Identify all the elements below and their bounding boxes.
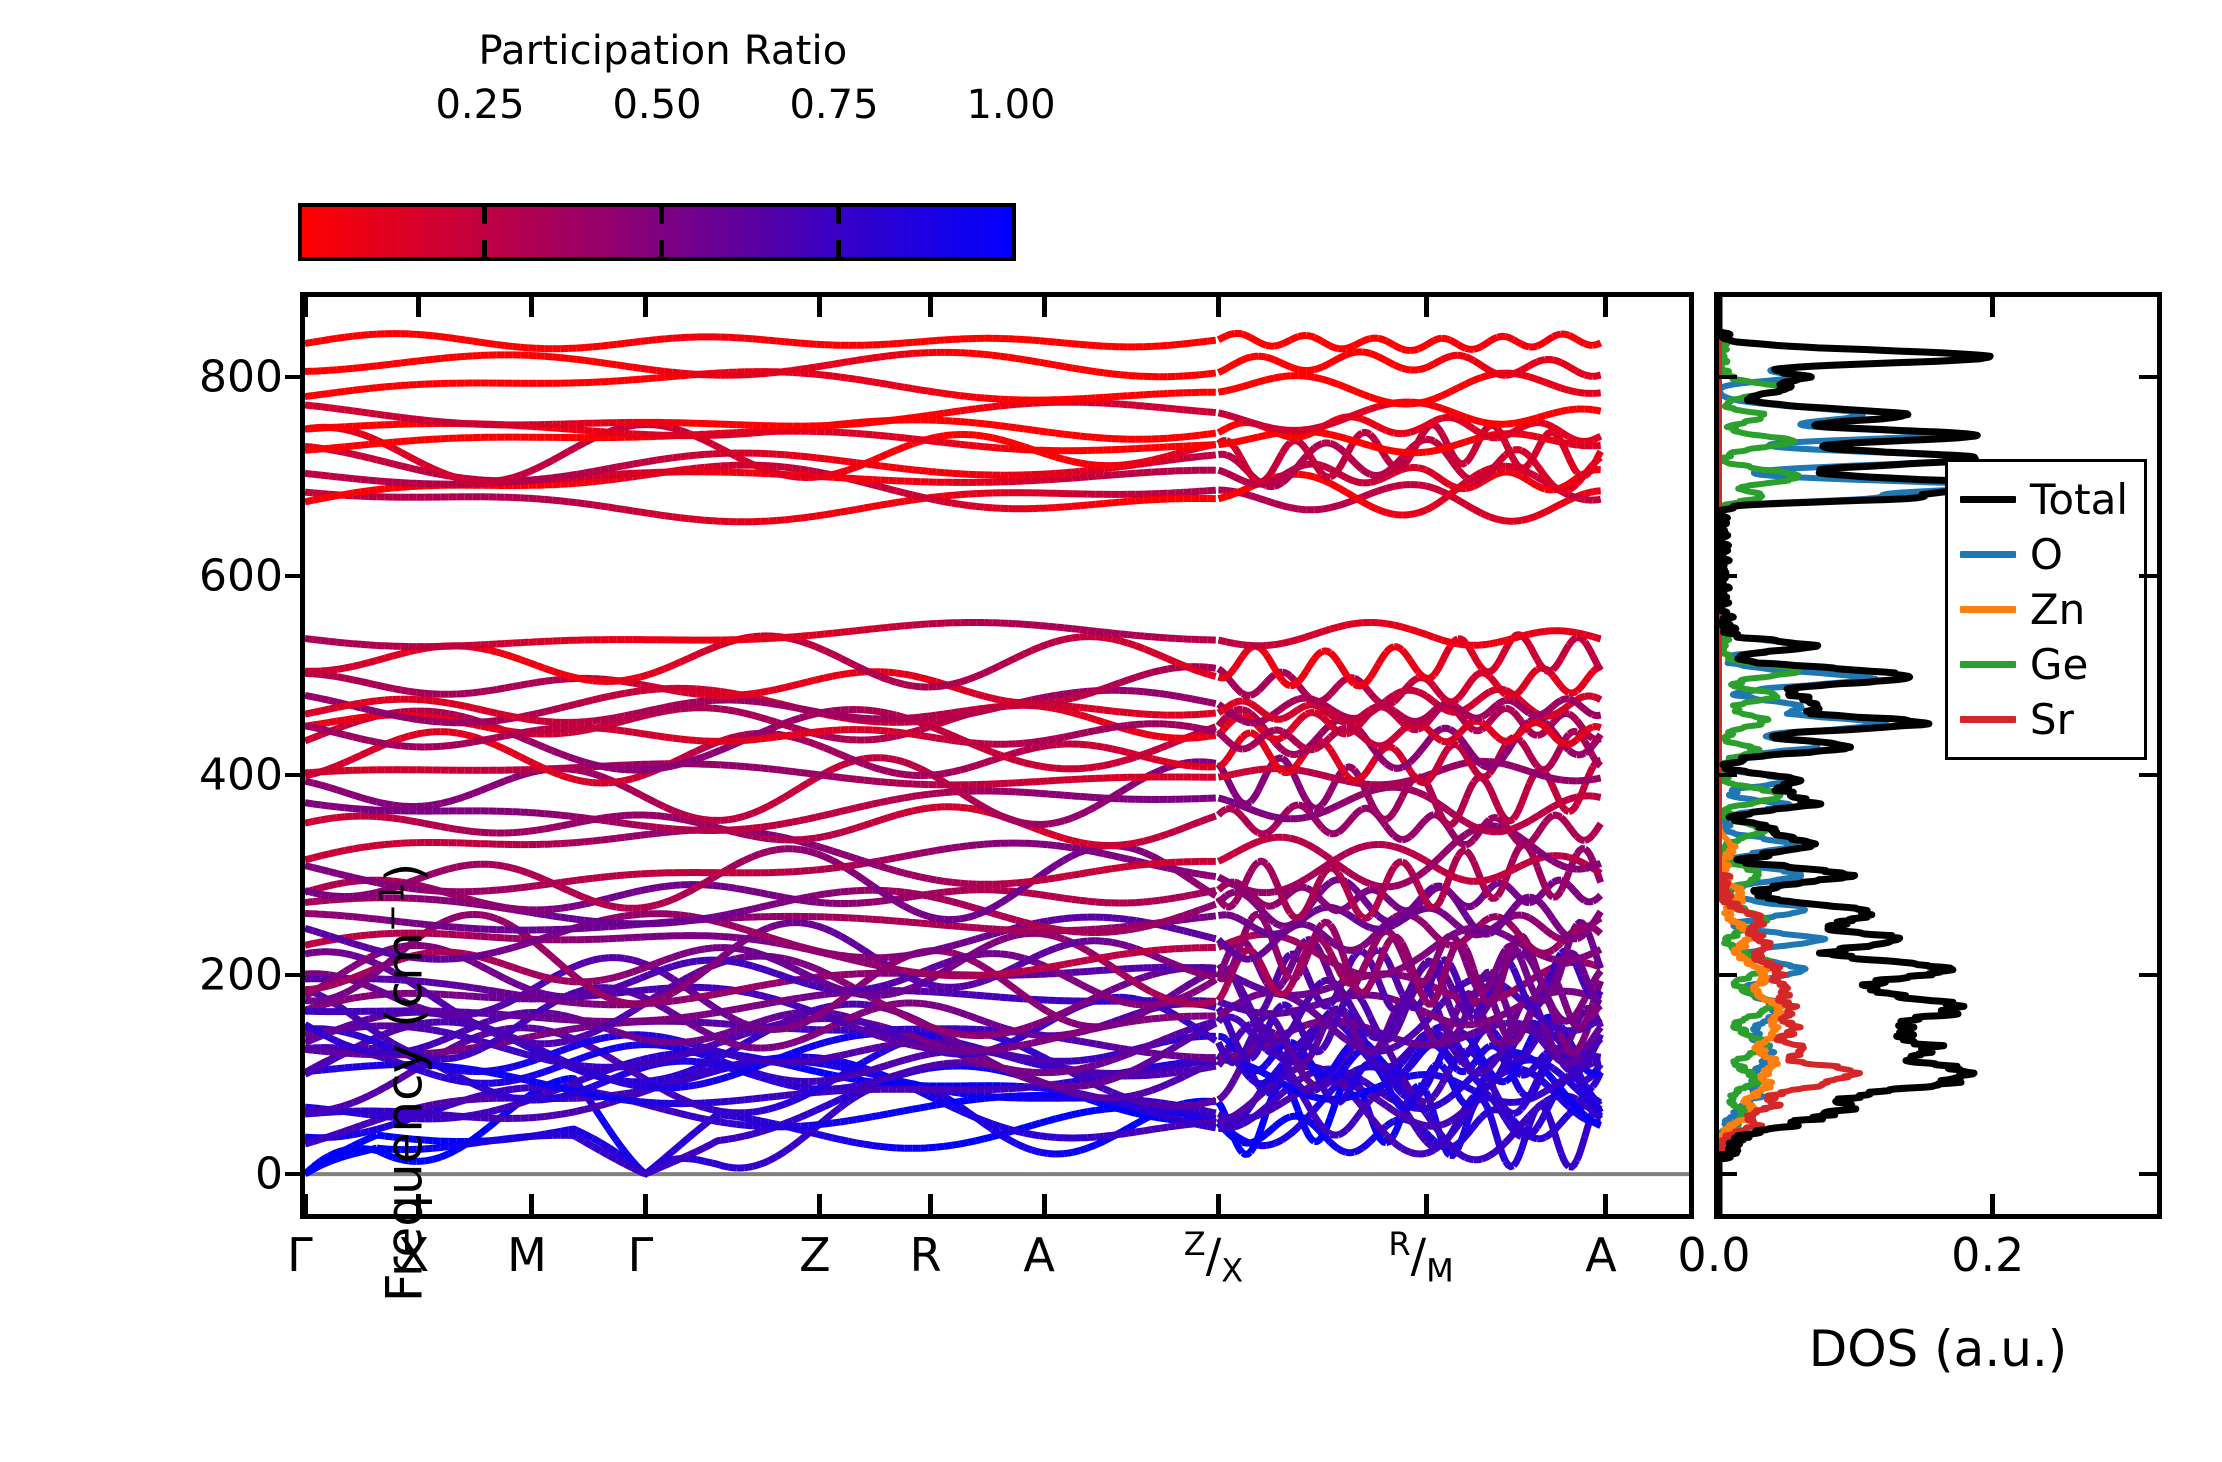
phonon-band-segment xyxy=(1585,953,1593,956)
phonon-band-segment xyxy=(872,919,880,920)
phonon-band-segment xyxy=(513,982,521,986)
phonon-band-segment xyxy=(984,944,992,948)
phonon-band-segment xyxy=(1378,1033,1386,1038)
phonon-band-segment xyxy=(449,1069,457,1071)
phonon-band-segment xyxy=(1234,1135,1242,1140)
phonon-band-segment xyxy=(1016,1028,1024,1030)
phonon-band-segment xyxy=(489,937,497,938)
phonon-band-segment xyxy=(728,1048,736,1052)
phonon-band-segment xyxy=(1000,978,1008,984)
phonon-band-segment xyxy=(353,975,361,978)
phonon-band-segment xyxy=(1362,1049,1370,1051)
phonon-band-segment xyxy=(649,963,657,966)
phonon-band-segment xyxy=(912,1045,920,1047)
phonon-band-segment xyxy=(513,1040,521,1042)
phonon-band-segment xyxy=(537,1034,545,1036)
phonon-band-segment xyxy=(952,1039,960,1044)
phonon-band-segment xyxy=(776,982,784,983)
phonon-band-segment xyxy=(521,943,529,946)
phonon-band-segment xyxy=(449,1150,457,1154)
phonon-band-segment xyxy=(433,1058,441,1059)
phonon-band-segment xyxy=(856,918,864,919)
phonon-band-segment xyxy=(992,929,1000,930)
phonon-band-segment xyxy=(1072,1151,1080,1153)
phonon-band-segment xyxy=(441,1102,449,1103)
phonon-band-segment xyxy=(808,949,816,951)
phonon-band-segment xyxy=(1024,1048,1032,1052)
phonon-band-segment xyxy=(553,958,561,965)
band-plot-area xyxy=(305,297,1689,1214)
phonon-band-segment xyxy=(1072,1061,1080,1062)
phonon-band-segment xyxy=(1000,1134,1008,1139)
phonon-band-segment xyxy=(697,1015,705,1016)
phonon-band-segment xyxy=(1032,924,1040,926)
phonon-band-segment xyxy=(489,1031,497,1035)
phonon-band-segment xyxy=(1168,949,1176,950)
phonon-band-segment xyxy=(337,915,345,916)
phonon-band-segment xyxy=(489,1091,497,1094)
phonon-band-segment xyxy=(768,971,776,974)
phonon-band-segment xyxy=(1192,1104,1200,1105)
phonon-band-segment xyxy=(681,1071,689,1074)
phonon-band-segment xyxy=(888,1075,896,1077)
phonon-band-segment xyxy=(705,995,713,996)
phonon-band-segment xyxy=(1426,1002,1434,1004)
phonon-band-segment xyxy=(1080,1001,1088,1005)
phonon-band-segment xyxy=(720,992,728,994)
phonon-band-segment xyxy=(824,1080,832,1081)
phonon-band-segment xyxy=(936,1049,944,1050)
phonon-band-segment xyxy=(992,974,1000,975)
phonon-band-segment xyxy=(633,914,641,915)
phonon-band-segment xyxy=(800,1087,808,1088)
phonon-band-segment xyxy=(944,1031,952,1033)
phonon-band-segment xyxy=(1104,995,1112,998)
phonon-band-segment xyxy=(880,1065,888,1068)
phonon-band-segment xyxy=(808,895,816,897)
phonon-band-segment xyxy=(657,1060,665,1062)
phonon-band-segment xyxy=(1545,1087,1553,1092)
phonon-band-segment xyxy=(792,944,800,946)
phonon-band-segment xyxy=(1048,966,1056,967)
phonon-band-segment xyxy=(784,1146,792,1152)
phonon-band-segment xyxy=(433,1114,441,1115)
phonon-band-segment xyxy=(1258,988,1266,991)
phonon-band-segment xyxy=(976,981,984,984)
phonon-band-segment xyxy=(689,1131,697,1138)
phonon-band-segment xyxy=(537,998,545,999)
phonon-band-segment xyxy=(433,952,441,953)
phonon-band-segment xyxy=(856,1028,864,1031)
phonon-band-segment xyxy=(1016,1088,1024,1089)
phonon-band-segment xyxy=(1314,928,1322,934)
phonon-band-segment xyxy=(1569,1160,1577,1167)
phonon-band-segment xyxy=(1144,901,1152,902)
phonon-band-segment xyxy=(473,1133,481,1139)
phonon-band-segment xyxy=(832,1138,840,1140)
phonon-band-segment xyxy=(553,996,561,997)
phonon-band-segment xyxy=(1080,1030,1088,1032)
phonon-band-segment xyxy=(1505,991,1513,995)
phonon-band-segment xyxy=(1048,1137,1056,1138)
phonon-band-segment xyxy=(1314,1101,1322,1110)
phonon-band-segment xyxy=(1040,1040,1048,1042)
phonon-band-segment xyxy=(529,1117,537,1118)
phonon-band-segment xyxy=(1274,932,1282,934)
phonon-band-segment xyxy=(1354,985,1362,993)
phonon-band-segment xyxy=(657,1055,665,1056)
phonon-band-segment xyxy=(577,919,585,920)
phonon-band-segment xyxy=(1569,1059,1577,1063)
phonon-band-segment xyxy=(848,956,856,957)
phonon-band-segment xyxy=(593,1084,601,1087)
phonon-band-segment xyxy=(537,1029,545,1030)
phonon-band-segment xyxy=(1250,925,1258,930)
phonon-band-segment xyxy=(329,1037,337,1041)
phonon-band-segment xyxy=(577,1137,585,1142)
phonon-band-segment xyxy=(505,938,513,939)
phonon-band-segment xyxy=(784,999,792,1000)
phonon-band-segment xyxy=(840,1054,848,1056)
phonon-band-segment xyxy=(976,1139,984,1141)
phonon-band-segment xyxy=(792,1086,800,1088)
phonon-band-segment xyxy=(888,957,896,958)
phonon-band-segment xyxy=(689,1023,697,1028)
phonon-band-segment xyxy=(617,1046,625,1048)
phonon-band-segment xyxy=(481,1087,489,1090)
phonon-band-segment xyxy=(609,917,617,919)
phonon-band-segment xyxy=(1218,986,1226,1000)
phonon-band-segment xyxy=(473,1039,481,1041)
phonon-band-segment xyxy=(473,1142,481,1143)
phonon-band-segment xyxy=(1184,1020,1192,1025)
phonon-band-segment xyxy=(864,1057,872,1062)
phonon-band-segment xyxy=(321,1069,329,1070)
phonon-band-segment xyxy=(1250,1069,1258,1071)
phonon-band-segment xyxy=(872,1034,880,1037)
phonon-band-segment xyxy=(752,891,760,893)
phonon-band-segment xyxy=(776,960,784,964)
phonon-band-segment xyxy=(1410,1120,1418,1123)
phonon-band-segment xyxy=(1008,972,1016,973)
phonon-band-segment xyxy=(673,1074,681,1076)
phonon-band-segment xyxy=(649,1020,657,1021)
phonon-band-segment xyxy=(1104,1075,1112,1076)
phonon-band-segment xyxy=(521,970,529,973)
phonon-band-segment xyxy=(1136,902,1144,903)
phonon-band-segment xyxy=(361,1037,369,1040)
phonon-band-segment xyxy=(752,1065,760,1068)
phonon-band-segment xyxy=(1370,995,1378,996)
phonon-band-segment xyxy=(728,1101,736,1102)
phonon-band-segment xyxy=(633,1101,641,1102)
phonon-band-segment xyxy=(1104,1104,1112,1106)
phonon-band-segment xyxy=(856,1012,864,1015)
phonon-band-segment xyxy=(1048,1084,1056,1085)
phonon-band-segment xyxy=(952,1010,960,1013)
phonon-band-segment xyxy=(337,1156,345,1159)
phonon-band-segment xyxy=(617,992,625,993)
phonon-band-segment xyxy=(697,1022,705,1023)
phonon-band-segment xyxy=(1104,961,1112,967)
phonon-band-segment xyxy=(1330,1134,1338,1135)
phonon-band-segment xyxy=(345,1154,353,1156)
phonon-band-segment xyxy=(537,975,545,977)
phonon-band-segment xyxy=(689,1116,697,1118)
phonon-band-segment xyxy=(585,1033,593,1036)
phonon-band-segment xyxy=(601,979,609,981)
phonon-band-segment xyxy=(736,1071,744,1074)
phonon-band-segment xyxy=(1160,971,1168,973)
phonon-band-segment xyxy=(633,1045,641,1046)
phonon-band-segment xyxy=(569,1082,577,1085)
phonon-band-segment xyxy=(665,957,673,960)
phonon-band-segment xyxy=(1120,944,1128,946)
phonon-band-segment xyxy=(824,1026,832,1030)
phonon-band-segment xyxy=(1450,995,1458,998)
phonon-band-segment xyxy=(457,896,465,898)
phonon-band-segment xyxy=(1537,1114,1545,1128)
phonon-band-segment xyxy=(816,1059,824,1060)
phonon-band-segment xyxy=(1258,950,1266,956)
phonon-band-segment xyxy=(1072,1040,1080,1041)
phonon-band-segment xyxy=(784,959,792,961)
phonon-band-segment xyxy=(1136,927,1144,929)
phonon-band-segment xyxy=(1192,1062,1200,1064)
phonon-band-segment xyxy=(649,1040,657,1041)
phonon-band-segment xyxy=(1000,954,1008,955)
phonon-band-segment xyxy=(1362,975,1370,976)
phonon-band-segment xyxy=(1561,1114,1569,1123)
phonon-band-segment xyxy=(705,1161,713,1163)
phonon-band-segment xyxy=(1192,910,1200,913)
phonon-band-segment xyxy=(465,915,473,916)
phonon-band-segment xyxy=(457,935,465,936)
phonon-band-segment xyxy=(960,927,968,928)
phonon-band-segment xyxy=(1250,985,1258,988)
phonon-band-segment xyxy=(537,1136,545,1137)
phonon-band-segment xyxy=(689,1051,697,1054)
phonon-band-segment xyxy=(976,1095,984,1096)
phonon-band-segment xyxy=(800,972,808,976)
phonon-band-segment xyxy=(984,1096,992,1097)
phonon-band-segment xyxy=(705,1081,713,1083)
phonon-band-segment xyxy=(705,948,713,949)
phonon-band-segment xyxy=(840,1121,848,1122)
phonon-band-segment xyxy=(992,1065,1000,1067)
phonon-band-segment xyxy=(944,966,952,971)
phonon-band-segment xyxy=(832,1056,840,1058)
phonon-band-segment xyxy=(768,937,776,940)
phonon-band-segment xyxy=(1080,947,1088,952)
phonon-band-segment xyxy=(457,915,465,917)
phonon-band-segment xyxy=(1136,1101,1144,1103)
phonon-band-segment xyxy=(768,1002,776,1003)
phonon-band-segment xyxy=(457,958,465,959)
phonon-band-segment xyxy=(353,1126,361,1129)
phonon-band-segment xyxy=(361,971,369,974)
phonon-band-segment xyxy=(1152,1053,1160,1054)
phonon-band-segment xyxy=(888,982,896,985)
phonon-band-segment xyxy=(856,1035,864,1036)
phonon-band-segment xyxy=(1112,1092,1120,1095)
phonon-band-segment xyxy=(1482,1095,1490,1098)
phonon-band-segment xyxy=(760,1097,768,1098)
phonon-band-segment xyxy=(1176,988,1184,993)
phonon-band-segment xyxy=(305,928,313,930)
phonon-band-segment xyxy=(904,892,912,893)
phonon-band-segment xyxy=(1128,1050,1136,1051)
phonon-band-segment xyxy=(1168,927,1176,929)
phonon-band-segment xyxy=(880,1114,888,1116)
phonon-band-segment xyxy=(665,886,673,887)
phonon-band-segment xyxy=(1144,1045,1152,1048)
phonon-band-segment xyxy=(553,908,561,909)
phonon-band-segment xyxy=(481,1010,489,1012)
phonon-band-segment xyxy=(689,977,697,983)
phonon-band-segment xyxy=(1144,1090,1152,1093)
phonon-band-segment xyxy=(545,977,553,979)
phonon-band-segment xyxy=(936,1146,944,1147)
phonon-band-segment xyxy=(1378,1100,1386,1106)
phonon-band-segment xyxy=(561,1088,569,1090)
phonon-band-segment xyxy=(1040,1007,1048,1012)
phonon-band-segment xyxy=(545,909,553,910)
phonon-band-segment xyxy=(313,1066,321,1070)
phonon-band-segment xyxy=(800,1126,808,1127)
phonon-band-segment xyxy=(513,1015,521,1016)
phonon-band-segment xyxy=(545,935,553,938)
phonon-band-segment xyxy=(665,1008,673,1013)
phonon-band-segment xyxy=(960,985,968,986)
phonon-band-segment xyxy=(1386,925,1394,928)
phonon-band-segment xyxy=(321,974,329,975)
phonon-band-segment xyxy=(928,1065,936,1067)
phonon-band-segment xyxy=(1402,1148,1410,1152)
phonon-band-segment xyxy=(593,980,601,981)
phonon-band-segment xyxy=(1064,976,1072,980)
phonon-band-segment xyxy=(641,1102,649,1103)
phonon-band-segment xyxy=(681,1098,689,1102)
phonon-band-segment xyxy=(1072,899,1080,900)
phonon-band-segment xyxy=(1338,966,1346,970)
phonon-band-segment xyxy=(1322,1036,1330,1050)
phonon-band-segment xyxy=(744,1167,752,1168)
phonon-band-segment xyxy=(1120,1073,1128,1076)
phonon-band-segment xyxy=(896,891,904,892)
phonon-band-segment xyxy=(329,1134,337,1137)
phonon-band-segment xyxy=(800,900,808,901)
phonon-band-segment xyxy=(441,1032,449,1034)
phonon-band-segment xyxy=(513,1051,521,1053)
phonon-band-segment xyxy=(593,1075,601,1077)
phonon-band-segment xyxy=(1064,1082,1072,1083)
phonon-band-segment xyxy=(776,974,784,977)
phonon-band-segment xyxy=(840,1037,848,1039)
phonon-band-segment xyxy=(760,1074,768,1076)
phonon-band-segment xyxy=(593,1039,601,1041)
phonon-band-segment xyxy=(816,951,824,953)
phonon-band-segment xyxy=(1024,1078,1032,1081)
phonon-band-segment xyxy=(649,888,657,889)
phonon-band-segment xyxy=(1096,1082,1104,1084)
phonon-band-segment xyxy=(1168,1080,1176,1084)
phonon-band-segment xyxy=(1482,933,1490,934)
phonon-band-segment xyxy=(832,954,840,955)
phonon-band-segment xyxy=(521,1099,529,1100)
phonon-band-segment xyxy=(465,935,473,936)
phonon-band-segment xyxy=(976,937,984,939)
phonon-band-segment xyxy=(569,1038,577,1040)
phonon-band-segment xyxy=(1200,907,1208,910)
phonon-band-segment xyxy=(537,1008,545,1013)
phonon-band-segment xyxy=(577,1079,585,1082)
phonon-band-segment xyxy=(553,916,561,917)
phonon-band-segment xyxy=(816,926,824,929)
phonon-band-segment xyxy=(1450,964,1458,981)
phonon-band-segment xyxy=(1418,1044,1426,1045)
phonon-band-segment xyxy=(1016,1070,1024,1071)
phonon-band-segment xyxy=(1513,993,1521,1000)
phonon-band-segment xyxy=(1056,946,1064,949)
phonon-band-segment xyxy=(1024,1125,1032,1127)
phonon-band-segment xyxy=(657,969,665,972)
phonon-band-segment xyxy=(465,957,473,958)
phonon-band-segment xyxy=(728,1123,736,1124)
phonon-band-segment xyxy=(1032,1150,1040,1152)
phonon-band-segment xyxy=(1513,1077,1521,1092)
phonon-band-segment xyxy=(345,1128,353,1131)
phonon-band-segment xyxy=(1104,941,1112,942)
phonon-band-segment xyxy=(720,923,728,925)
phonon-band-segment xyxy=(952,944,960,946)
phonon-band-segment xyxy=(1184,1037,1192,1042)
phonon-band-segment xyxy=(1024,996,1032,1002)
phonon-band-segment xyxy=(705,1144,713,1148)
phonon-band-segment xyxy=(776,1104,784,1107)
phonon-band-segment xyxy=(657,1079,665,1081)
phonon-band-segment xyxy=(904,1034,912,1037)
phonon-band-segment xyxy=(697,971,705,977)
phonon-band-segment xyxy=(736,1020,744,1024)
phonon-band-segment xyxy=(976,1060,984,1063)
phonon-band-segment xyxy=(345,1032,353,1034)
colorbar-tick-label-1: 0.50 xyxy=(612,82,701,128)
phonon-band-segment xyxy=(1521,915,1529,918)
phonon-band-segment xyxy=(457,1081,465,1082)
phonon-band-segment xyxy=(601,1077,609,1079)
phonon-band-segment xyxy=(888,1147,896,1148)
phonon-band-segment xyxy=(1418,1099,1426,1102)
phonon-band-segment xyxy=(952,1033,960,1034)
phonon-band-segment xyxy=(673,1112,681,1114)
phonon-band-segment xyxy=(649,1000,657,1002)
phonon-band-segment xyxy=(888,1112,896,1114)
phonon-band-segment xyxy=(545,999,553,1000)
phonon-band-segment xyxy=(1354,1110,1362,1121)
phonon-band-segment xyxy=(353,1048,361,1050)
phonon-band-segment xyxy=(888,920,896,921)
phonon-band-segment xyxy=(1370,1087,1378,1090)
phonon-band-segment xyxy=(545,1033,553,1035)
phonon-band-segment xyxy=(1306,925,1314,929)
phonon-band-segment xyxy=(1410,1006,1418,1008)
phonon-band-segment xyxy=(840,981,848,985)
phonon-band-segment xyxy=(489,1014,497,1015)
phonon-band-segment xyxy=(808,1045,816,1048)
phonon-band-segment xyxy=(1338,1082,1346,1084)
phonon-band-segment xyxy=(641,889,649,891)
